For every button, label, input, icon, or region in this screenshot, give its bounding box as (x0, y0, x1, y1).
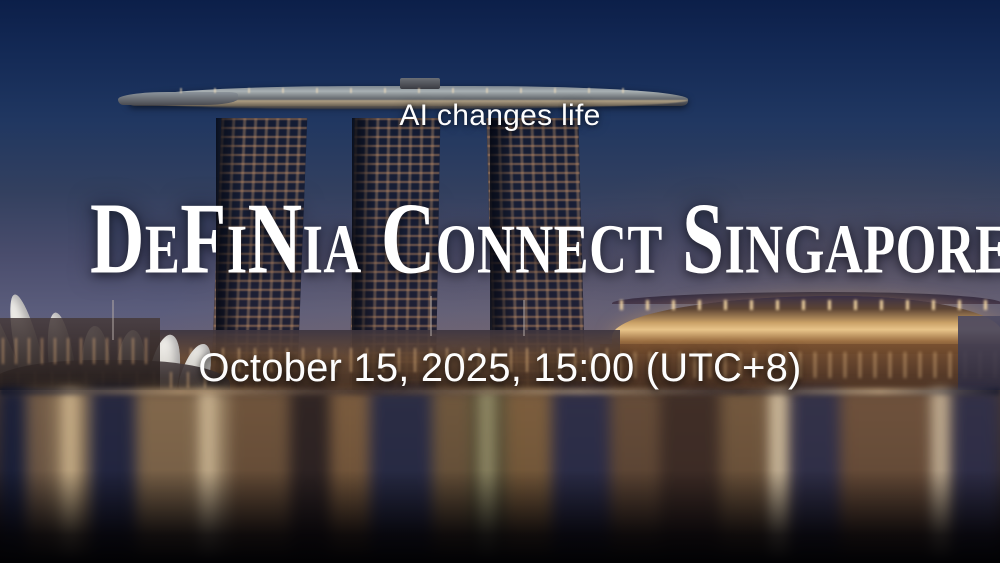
event-tagline: AI changes life (0, 99, 1000, 133)
water-bottom-fade (0, 470, 1000, 563)
event-banner: AI changes life DeFiNia Connect Singapor… (0, 0, 1000, 563)
event-title: DeFiNia Connect Singapore (90, 188, 910, 289)
event-datetime: October 15, 2025, 15:00 (UTC+8) (0, 346, 1000, 391)
construction-crane (523, 300, 525, 336)
construction-crane (112, 300, 114, 340)
construction-crane (430, 296, 432, 336)
shoppes-mall-roof-lights (620, 300, 995, 310)
skypark-edge-lights (180, 88, 650, 93)
